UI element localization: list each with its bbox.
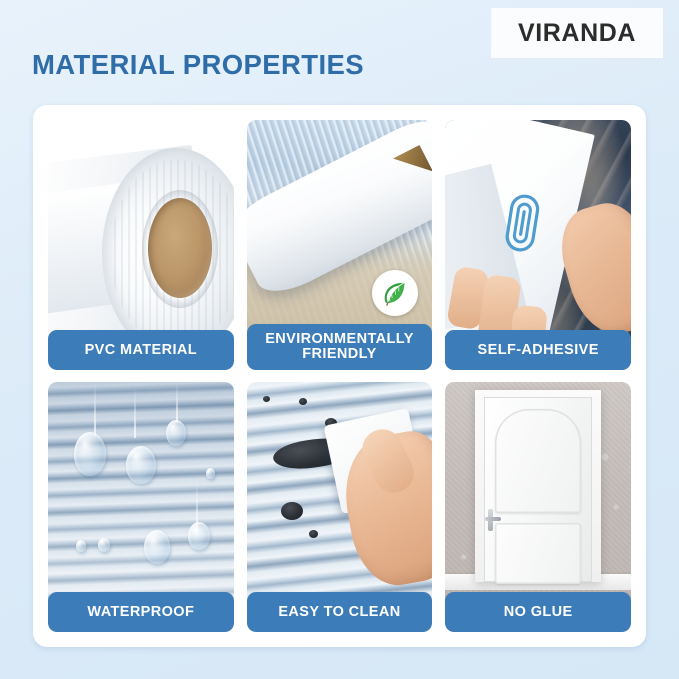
infographic-page: VIRANDA MATERIAL PROPERTIES PVC MATERIAL bbox=[0, 0, 679, 679]
feature-label-pvc-material: PVC MATERIAL bbox=[48, 330, 234, 370]
feature-label-text: PVC MATERIAL bbox=[85, 343, 197, 358]
feature-label-text: ENVIRONMENTALLYFRIENDLY bbox=[265, 332, 414, 362]
feature-card-easy-to-clean[interactable]: EASY TO CLEAN bbox=[247, 382, 433, 632]
feature-label-no-glue: NO GLUE bbox=[445, 592, 631, 632]
feature-label-text: NO GLUE bbox=[504, 605, 573, 620]
feature-card-self-adhesive[interactable]: SELF-ADHESIVE bbox=[445, 120, 631, 370]
page-title: MATERIAL PROPERTIES bbox=[32, 49, 364, 81]
feature-card-environmentally-friendly[interactable]: ENVIRONMENTALLYFRIENDLY bbox=[247, 120, 433, 370]
feature-label-waterproof: WATERPROOF bbox=[48, 592, 234, 632]
cards-panel: PVC MATERIAL bbox=[33, 105, 646, 647]
brand-logo: VIRANDA bbox=[491, 8, 663, 58]
feature-label-text: WATERPROOF bbox=[87, 605, 194, 620]
feature-label-easy-to-clean: EASY TO CLEAN bbox=[247, 592, 433, 632]
feature-label-text: SELF-ADHESIVE bbox=[478, 343, 599, 358]
feature-label-self-adhesive: SELF-ADHESIVE bbox=[445, 330, 631, 370]
feature-card-pvc-material[interactable]: PVC MATERIAL bbox=[48, 120, 234, 370]
feature-label-text: EASY TO CLEAN bbox=[278, 605, 400, 620]
feature-grid: PVC MATERIAL bbox=[48, 120, 631, 632]
feature-card-waterproof[interactable]: WATERPROOF bbox=[48, 382, 234, 632]
feature-label-environmentally-friendly: ENVIRONMENTALLYFRIENDLY bbox=[247, 324, 433, 370]
brand-logo-text: VIRANDA bbox=[518, 19, 636, 48]
feature-card-no-glue[interactable]: NO GLUE bbox=[445, 382, 631, 632]
leaf-icon bbox=[372, 270, 418, 316]
